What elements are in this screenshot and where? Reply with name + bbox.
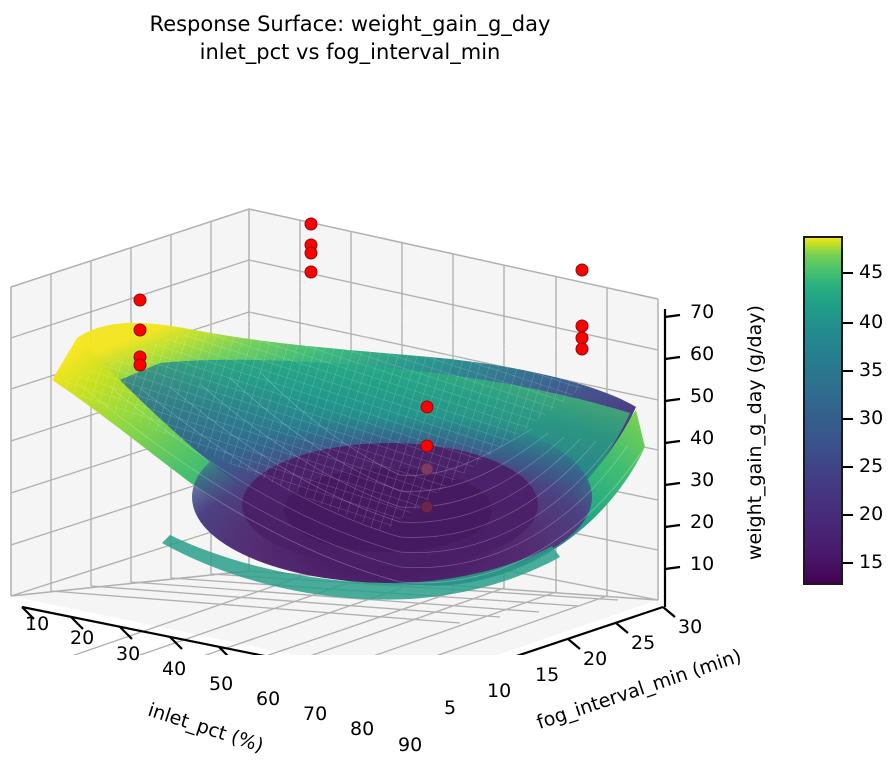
colorbar-tick-15 [843, 562, 853, 564]
y-tick-label-15: 15 [535, 664, 559, 686]
colorbar-tick-40 [843, 322, 853, 324]
colorbar-tick-35 [843, 370, 853, 372]
scatter-point [134, 294, 147, 307]
scatter-point-occluded [421, 501, 434, 514]
y-tick-label-5: 5 [444, 697, 456, 719]
axes3d-svg [0, 95, 720, 655]
x-axis-title: inlet_pct (%) [145, 699, 266, 757]
colorbar-tick-45 [843, 272, 853, 274]
z-tick-label-50: 50 [690, 385, 714, 407]
colorbar-tick-20 [843, 514, 853, 516]
z-tick-label-60: 60 [690, 343, 714, 365]
x-tick-label-20: 20 [70, 627, 94, 649]
colorbar-gradient[interactable] [803, 236, 843, 585]
colorbar-tick-30 [843, 418, 853, 420]
scatter-point [134, 359, 147, 372]
x-tick-label-40: 40 [162, 658, 186, 680]
x-tick-label-50: 50 [209, 673, 233, 695]
x-tick-label-90: 90 [398, 734, 422, 756]
scatter-point [421, 440, 434, 453]
y-tick-label-20: 20 [583, 648, 607, 670]
scatter-point [305, 247, 318, 260]
axes3d-region: 70 60 50 40 30 20 10 10 20 30 40 50 60 7… [0, 95, 720, 655]
colorbar-label-45: 45 [859, 261, 883, 283]
colorbar-label-15: 15 [859, 551, 883, 573]
z-tick-label-10: 10 [690, 553, 714, 575]
colorbar-label-40: 40 [859, 311, 883, 333]
y-tick-label-25: 25 [631, 632, 655, 654]
z-tick-label-20: 20 [690, 511, 714, 533]
scatter-point [576, 343, 589, 356]
colorbar-label-25: 25 [859, 455, 883, 477]
y-tick-label-10: 10 [487, 680, 511, 702]
z-ticks [665, 315, 680, 569]
colorbar-label-20: 20 [859, 503, 883, 525]
colorbar[interactable]: 45 40 35 30 25 20 15 [803, 236, 843, 585]
colorbar-label-35: 35 [859, 359, 883, 381]
scatter-point [576, 264, 589, 277]
x-tick-label-10: 10 [25, 613, 49, 635]
y-tick-label-30: 30 [678, 616, 702, 638]
y-axis-title: fog_interval_min (min) [534, 645, 744, 734]
z-axis-title: weight_gain_g_day (g/day) [744, 305, 766, 560]
scatter-point-occluded [421, 463, 434, 476]
scatter-point [305, 218, 318, 231]
colorbar-label-30: 30 [859, 407, 883, 429]
colorbar-tick-25 [843, 466, 853, 468]
x-tick-label-80: 80 [350, 718, 374, 740]
chart-title: Response Surface: weight_gain_g_day inle… [0, 10, 700, 66]
z-tick-label-40: 40 [690, 427, 714, 449]
z-tick-label-30: 30 [690, 469, 714, 491]
scatter-point [134, 324, 147, 337]
x-tick-label-70: 70 [303, 703, 327, 725]
scatter-point [305, 266, 318, 279]
x-tick-label-30: 30 [116, 643, 140, 665]
z-tick-label-70: 70 [690, 301, 714, 323]
x-tick-label-60: 60 [256, 688, 280, 710]
figure-canvas: Response Surface: weight_gain_g_day inle… [0, 0, 896, 775]
scatter-point [421, 401, 434, 414]
